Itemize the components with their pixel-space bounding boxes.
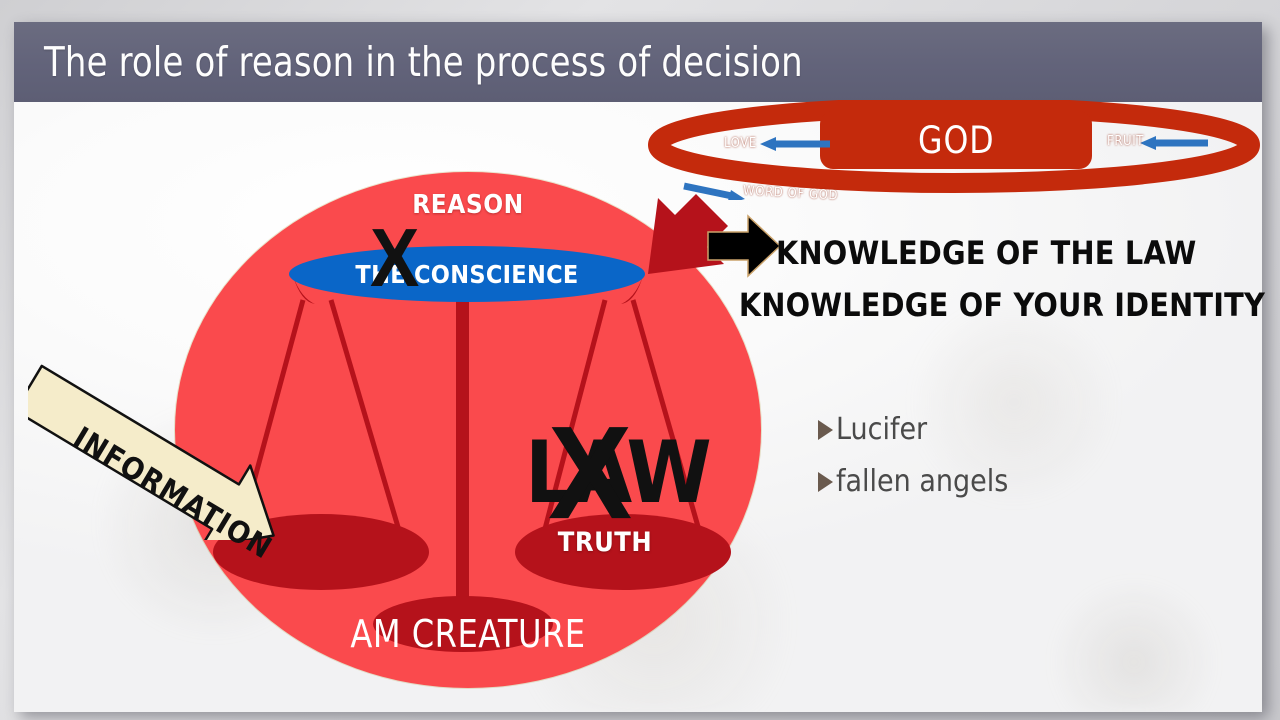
god-label-fruit: FRUIT (1107, 134, 1144, 149)
triangle-right-icon (818, 472, 833, 492)
information-arrow-banner: INFORMATION (28, 360, 348, 540)
conscience-label: THE CONSCIENCE (289, 246, 645, 302)
slide-stage: The role of reason in the process of dec… (0, 0, 1280, 720)
knowledge-line-1: KNOWLEDGE OF THE LAW (720, 228, 1265, 280)
knowledge-line-2: KNOWLEDGE OF YOUR IDENTITY (720, 280, 1265, 332)
cross-out-law-icon: X (548, 416, 632, 528)
bullet-list: Lucifer fallen angels (818, 412, 1008, 516)
page-title: The role of reason in the process of dec… (44, 38, 803, 86)
bullet-label-lucifer: Lucifer (836, 412, 927, 447)
god-label: GOD (918, 119, 995, 162)
list-item: Lucifer (818, 412, 1008, 447)
triangle-right-icon (818, 420, 833, 440)
bullet-label-fallen-angels: fallen angels (836, 464, 1008, 499)
cross-out-conscience-icon: X (370, 223, 419, 293)
god-label-love: LOVE (724, 136, 757, 151)
knowledge-text-block: KNOWLEDGE OF THE LAW KNOWLEDGE OF YOUR I… (720, 228, 1265, 332)
truth-label: TRUTH (505, 527, 705, 558)
god-center-bar: GOD (820, 111, 1092, 169)
slide-title-bar: The role of reason in the process of dec… (14, 22, 1262, 102)
list-item: fallen angels (818, 464, 1008, 499)
creature-label: AM CREATURE (193, 612, 744, 656)
